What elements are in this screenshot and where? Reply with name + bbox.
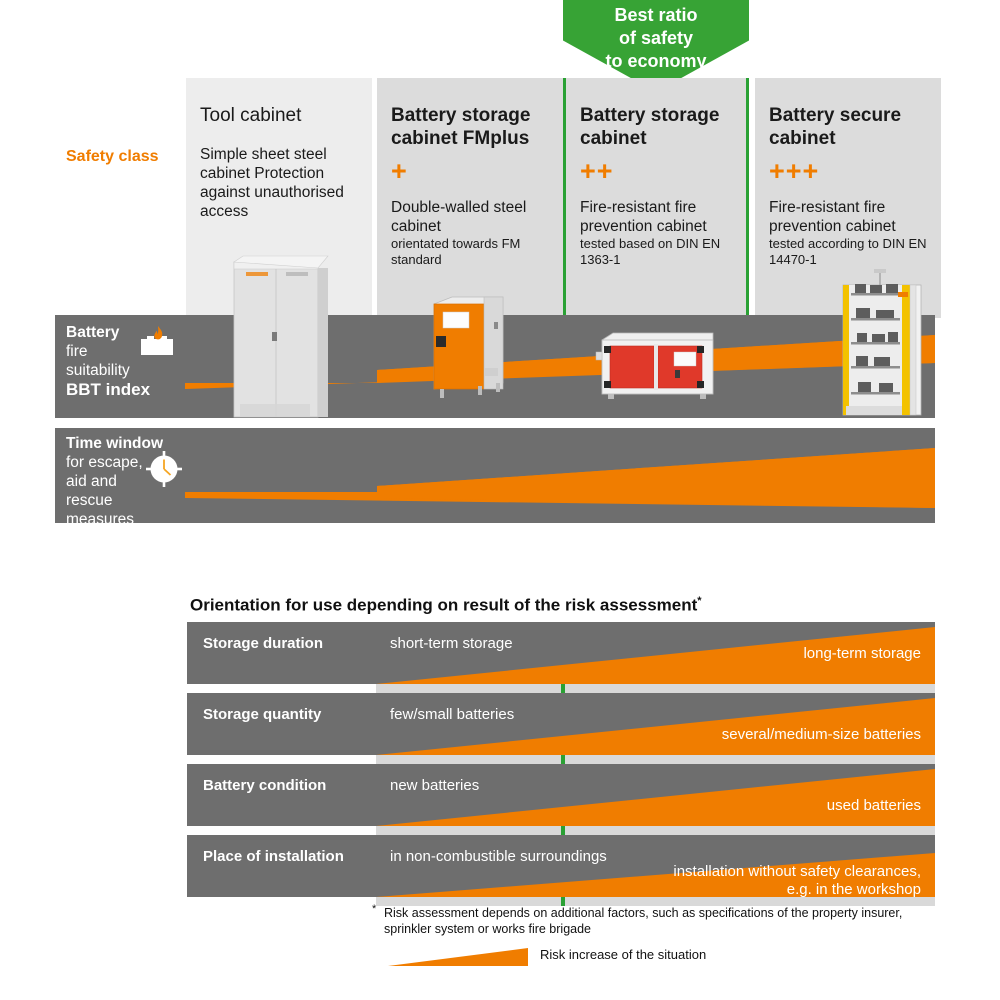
risk-increase-wedge-icon [388, 948, 528, 966]
row-right-value: long-term storage [803, 645, 921, 663]
risk-wedge [187, 764, 935, 826]
risk-assessment-title: Orientation for use depending on result … [190, 595, 702, 616]
risk-assessment-section: Orientation for use depending on result … [0, 585, 1000, 1000]
time-window-band: Time window for escape, aid and rescue m… [55, 428, 935, 523]
footnote-text: Risk assessment depends on additional fa… [384, 905, 944, 937]
row-divider-strip [376, 826, 935, 835]
row-divider-strip [376, 755, 935, 764]
product-column-fmplus[interactable]: Battery storage cabinet FMplus + Double-… [377, 78, 563, 318]
column-desc-subtext: orientated towards FM standard [391, 236, 549, 268]
bbt-line-4: BBT index [66, 380, 186, 399]
column-desc-text: Double-walled steel cabinet [391, 199, 526, 235]
green-tick [561, 755, 565, 764]
row-right-value: used batteries [827, 797, 921, 815]
row-label: Storage duration [203, 635, 323, 652]
rating-plus: + [391, 156, 549, 186]
row-label: Place of installation [203, 848, 344, 865]
column-description: Double-walled steel cabinet orientated t… [391, 198, 549, 268]
column-title: Battery storage cabinet FMplus [391, 104, 549, 150]
row-left-value: new batteries [390, 777, 479, 794]
banner-text: Best ratio of safety to economy [563, 4, 749, 73]
column-title: Battery secure cabinet [769, 104, 927, 150]
banner-line-1: Best ratio [563, 4, 749, 27]
row-left-value: in non-combustible surroundings [390, 848, 607, 865]
green-tick [561, 826, 565, 835]
product-column-battery-secure-cabinet[interactable]: Battery secure cabinet +++ Fire-resistan… [755, 78, 941, 318]
column-description: Fire-resistant fire prevention cabinet t… [580, 198, 732, 268]
legend-label: Risk increase of the situation [540, 947, 706, 962]
title-asterisk: * [697, 595, 701, 607]
column-title: Battery storage cabinet [580, 104, 732, 150]
battery-fire-icon [137, 323, 177, 359]
row-divider-strip [376, 684, 935, 693]
risk-assessment-title-text: Orientation for use depending on result … [190, 596, 697, 615]
column-desc-subtext: tested according to DIN EN 14470-1 [769, 236, 927, 268]
column-desc-text: Fire-resistant fire prevention cabinet [580, 199, 707, 235]
footnote-marker: * [372, 903, 376, 915]
table-row[interactable]: Storage duration short-term storage long… [187, 622, 935, 684]
bbt-line-3: suitability [66, 361, 186, 380]
safety-class-label: Safety class [66, 148, 159, 166]
row-right-value: installation without safety clearances, … [673, 863, 921, 897]
row-label: Battery condition [203, 777, 326, 794]
product-column-tool-cabinet[interactable]: Tool cabinet Simple sheet steel cabinet … [186, 78, 372, 318]
banner-line-2: of safety [563, 27, 749, 50]
column-description: Fire-resistant fire prevention cabinet t… [769, 198, 927, 268]
comparison-section: Best ratio of safety to economy Safety c… [0, 0, 1000, 545]
green-tick [561, 684, 565, 693]
rating-plus: ++ [580, 156, 732, 186]
clock-icon [143, 448, 185, 490]
column-desc-subtext: tested based on DIN EN 1363-1 [580, 236, 732, 268]
risk-wedge [187, 693, 935, 755]
column-title: Tool cabinet [200, 104, 358, 127]
row-right-value: several/medium-size batteries [722, 726, 921, 744]
rating-plus: +++ [769, 156, 927, 186]
bbt-index-band: Battery fire suitability BBT index [55, 315, 935, 418]
table-row[interactable]: Storage quantity few/small batteries sev… [187, 693, 935, 755]
table-row[interactable]: Battery condition new batteries used bat… [187, 764, 935, 826]
time-window-line-5: measures [66, 510, 196, 523]
product-column-battery-storage-cabinet[interactable]: Battery storage cabinet ++ Fire-resistan… [563, 78, 749, 318]
row-left-value: short-term storage [390, 635, 513, 652]
banner-line-3: to economy [563, 50, 749, 73]
column-desc-text: Fire-resistant fire prevention cabinet [769, 199, 896, 235]
bbt-risk-wedge [55, 315, 935, 418]
column-description: Simple sheet steel cabinet Protection ag… [200, 145, 358, 221]
row-left-value: few/small batteries [390, 706, 514, 723]
column-desc-text: Simple sheet steel cabinet Protection ag… [200, 146, 344, 220]
time-window-line-4: rescue [66, 491, 196, 510]
table-row[interactable]: Place of installation in non-combustible… [187, 835, 935, 897]
row-label: Storage quantity [203, 706, 321, 723]
